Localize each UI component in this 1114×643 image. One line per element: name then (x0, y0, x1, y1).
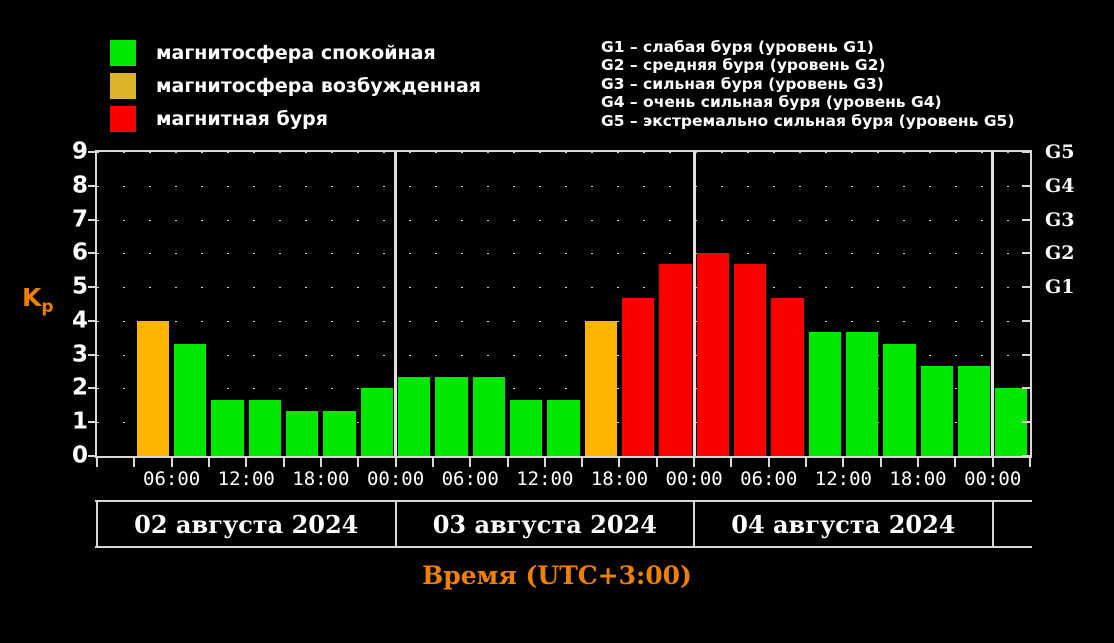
x-axis-title: Время (UTC+3:00) (0, 561, 1114, 590)
bar (286, 411, 318, 456)
x-axis-tick-label: 12:00 (218, 468, 275, 490)
x-axis-tick-label: 00:00 (666, 468, 723, 490)
bar (883, 344, 915, 456)
y-axis-right-tick (1022, 421, 1031, 423)
bar (622, 298, 654, 456)
date-label: 04 августа 2024 (694, 500, 993, 548)
gridline (97, 287, 1030, 288)
bar (771, 298, 803, 456)
y-axis-tick-label: 1 (72, 411, 88, 434)
chart: Kp 0123456789 G1G2G3G4G5 06:0012:0018:00… (0, 0, 1114, 643)
bar (547, 400, 579, 456)
x-axis-tick (656, 458, 658, 467)
y-axis-right-tick (1022, 354, 1031, 356)
bar (846, 332, 878, 456)
storm-level-label: G2 (1045, 242, 1074, 264)
date-separator (96, 500, 98, 548)
x-axis-tick (917, 458, 919, 467)
bar (174, 344, 206, 456)
y-axis-tick-label: 5 (72, 276, 88, 299)
storm-level-label: G5 (1045, 141, 1074, 163)
date-separator (395, 500, 397, 548)
day-separator (394, 152, 397, 456)
x-axis-tick (768, 458, 770, 467)
y-axis-tick-label: 8 (72, 174, 88, 197)
bar (809, 332, 841, 456)
x-axis-tick-label: 18:00 (591, 468, 648, 490)
y-axis-right-tick (1022, 151, 1031, 153)
date-label: 03 августа 2024 (396, 500, 695, 548)
x-axis-tick-label: 00:00 (367, 468, 424, 490)
x-axis-tick (208, 458, 210, 467)
bar (137, 321, 169, 456)
bar (510, 400, 542, 456)
y-axis-title-sub: p (41, 297, 53, 317)
y-axis-right-tick (1022, 455, 1031, 457)
x-axis-tick (395, 458, 397, 467)
date-separator (693, 500, 695, 548)
bar (697, 253, 729, 456)
y-axis-tick-label: 9 (72, 141, 88, 164)
bar (921, 366, 953, 456)
x-axis-tick (96, 458, 98, 467)
x-axis-tick (171, 458, 173, 467)
gridline (97, 186, 1030, 187)
bar (361, 388, 393, 456)
day-separator (693, 152, 696, 456)
x-axis-tick (954, 458, 956, 467)
x-axis-tick (133, 458, 135, 467)
day-separator (991, 152, 994, 456)
x-axis-tick (693, 458, 695, 467)
date-label: 02 августа 2024 (97, 500, 396, 548)
gridline (97, 220, 1030, 221)
x-axis-tick-label: 06:00 (740, 468, 797, 490)
storm-level-label: G3 (1045, 209, 1074, 231)
x-axis-tick (469, 458, 471, 467)
gridline (97, 321, 1030, 322)
bar (659, 264, 691, 456)
bar (211, 400, 243, 456)
bar (323, 411, 355, 456)
plot-inner (97, 152, 1030, 456)
y-axis-title-main: K (22, 283, 41, 312)
y-axis-right-tick (1022, 320, 1031, 322)
y-axis-right-tick (1022, 185, 1031, 187)
gridline (97, 253, 1030, 254)
x-axis-tick (1029, 458, 1031, 467)
date-band: 02 августа 202403 августа 202404 августа… (95, 500, 1032, 548)
bar (435, 377, 467, 456)
x-axis-tick (544, 458, 546, 467)
x-axis-tick (432, 458, 434, 467)
bar (585, 321, 617, 456)
x-axis-tick (992, 458, 994, 467)
bar (958, 366, 990, 456)
x-axis-tick-label: 18:00 (889, 468, 946, 490)
y-axis-tick-label: 7 (72, 208, 88, 231)
y-axis-right-tick (1022, 286, 1031, 288)
x-axis-tick (283, 458, 285, 467)
y-axis-right-tick (1022, 387, 1031, 389)
y-axis-title: Kp (22, 283, 54, 317)
x-axis-tick (880, 458, 882, 467)
x-axis-tick-label: 12:00 (516, 468, 573, 490)
x-axis-tick (618, 458, 620, 467)
kp-index-chart-page: магнитосфера спокойнаямагнитосфера возбу… (0, 0, 1114, 643)
x-axis-tick (245, 458, 247, 467)
x-axis-tick (507, 458, 509, 467)
y-axis-tick-label: 0 (72, 445, 88, 468)
y-axis-tick-label: 6 (72, 242, 88, 265)
bar (734, 264, 766, 456)
x-axis-tick-label: 12:00 (815, 468, 872, 490)
date-separator (992, 500, 994, 548)
y-axis-right-tick (1022, 252, 1031, 254)
bar (473, 377, 505, 456)
y-axis-tick-label: 3 (72, 343, 88, 366)
gridline (97, 152, 1030, 153)
x-axis-tick (842, 458, 844, 467)
x-axis-tick (805, 458, 807, 467)
x-axis-tick (320, 458, 322, 467)
bar (398, 377, 430, 456)
x-axis-tick (730, 458, 732, 467)
x-axis-tick (357, 458, 359, 467)
x-axis-tick (581, 458, 583, 467)
x-axis-tick-label: 06:00 (143, 468, 200, 490)
y-axis-tick-label: 2 (72, 377, 88, 400)
plot-area (95, 150, 1032, 458)
x-axis-tick-label: 00:00 (964, 468, 1021, 490)
y-axis-ticks: 0123456789 (55, 150, 88, 458)
bar (249, 400, 281, 456)
y-axis-tick-label: 4 (72, 309, 88, 332)
x-axis-tick-label: 06:00 (442, 468, 499, 490)
x-axis-tick-label: 18:00 (292, 468, 349, 490)
storm-level-label: G4 (1045, 175, 1074, 197)
storm-level-label: G1 (1045, 276, 1074, 298)
y-axis-right-tick (1022, 219, 1031, 221)
